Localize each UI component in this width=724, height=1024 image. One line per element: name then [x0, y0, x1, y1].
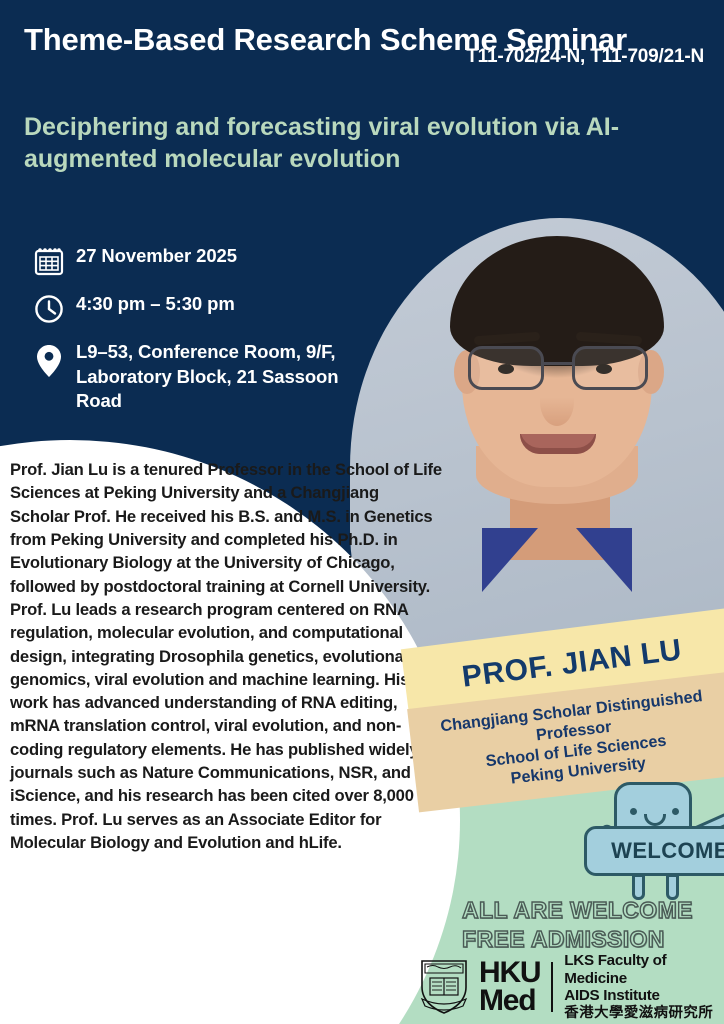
detail-date: 27 November 2025	[22, 244, 352, 276]
glasses-lens-left	[468, 346, 544, 390]
mascot-sign-text: WELCOME	[611, 838, 724, 864]
faculty-line-1: LKS Faculty of Medicine	[564, 952, 724, 987]
photo-mouth	[520, 434, 596, 454]
hkumed-line-2: Med	[479, 987, 540, 1015]
seminar-poster: Theme-Based Research Scheme Seminar T11-…	[0, 0, 724, 1024]
glasses-lens-right	[572, 346, 648, 390]
logo-divider	[551, 962, 553, 1012]
footer-logo: HKU Med LKS Faculty of Medicine AIDS Ins…	[418, 952, 724, 1022]
detail-venue-text: L9–53, Conference Room, 9/F, Laboratory …	[76, 340, 352, 414]
location-pin-icon	[22, 340, 76, 378]
clock-icon	[22, 292, 76, 324]
event-details: 27 November 2025 4:30 pm – 5:30 pm L9–53…	[22, 244, 352, 430]
cta-all-are-welcome: ALL ARE WELCOME	[462, 896, 693, 925]
faculty-line-2: AIDS Institute	[564, 987, 724, 1005]
hkumed-wordmark: HKU Med	[479, 959, 540, 1014]
detail-time: 4:30 pm – 5:30 pm	[22, 292, 352, 324]
detail-date-text: 27 November 2025	[76, 244, 237, 269]
seminar-subtitle: Deciphering and forecasting viral evolut…	[24, 112, 624, 175]
faculty-line-cn: 香港大學愛滋病研究所	[564, 1005, 724, 1022]
mascot-welcome-sign: WELCOME	[584, 826, 724, 876]
calendar-icon	[22, 244, 76, 276]
detail-venue: L9–53, Conference Room, 9/F, Laboratory …	[22, 340, 352, 414]
mascot-eye-left	[630, 808, 637, 815]
cta-free-admission: FREE ADMISSION	[462, 925, 693, 954]
faculty-name: LKS Faculty of Medicine AIDS Institute 香…	[564, 952, 724, 1022]
speaker-bio: Prof. Jian Lu is a tenured Professor in …	[10, 458, 442, 854]
detail-time-text: 4:30 pm – 5:30 pm	[76, 292, 235, 317]
photo-collar-right	[576, 528, 632, 592]
photo-nose	[540, 378, 574, 426]
reference-numbers: T11-702/24-N, T11-709/21-N	[466, 46, 704, 68]
photo-collar-left	[482, 528, 538, 592]
call-to-action: ALL ARE WELCOME FREE ADMISSION	[462, 896, 693, 955]
glasses-bridge	[542, 362, 574, 365]
hku-crest-icon	[418, 957, 470, 1017]
mascot-eye-right	[672, 808, 679, 815]
hkumed-line-1: HKU	[479, 959, 540, 987]
welcome-mascot-icon: WELCOME	[578, 782, 724, 902]
